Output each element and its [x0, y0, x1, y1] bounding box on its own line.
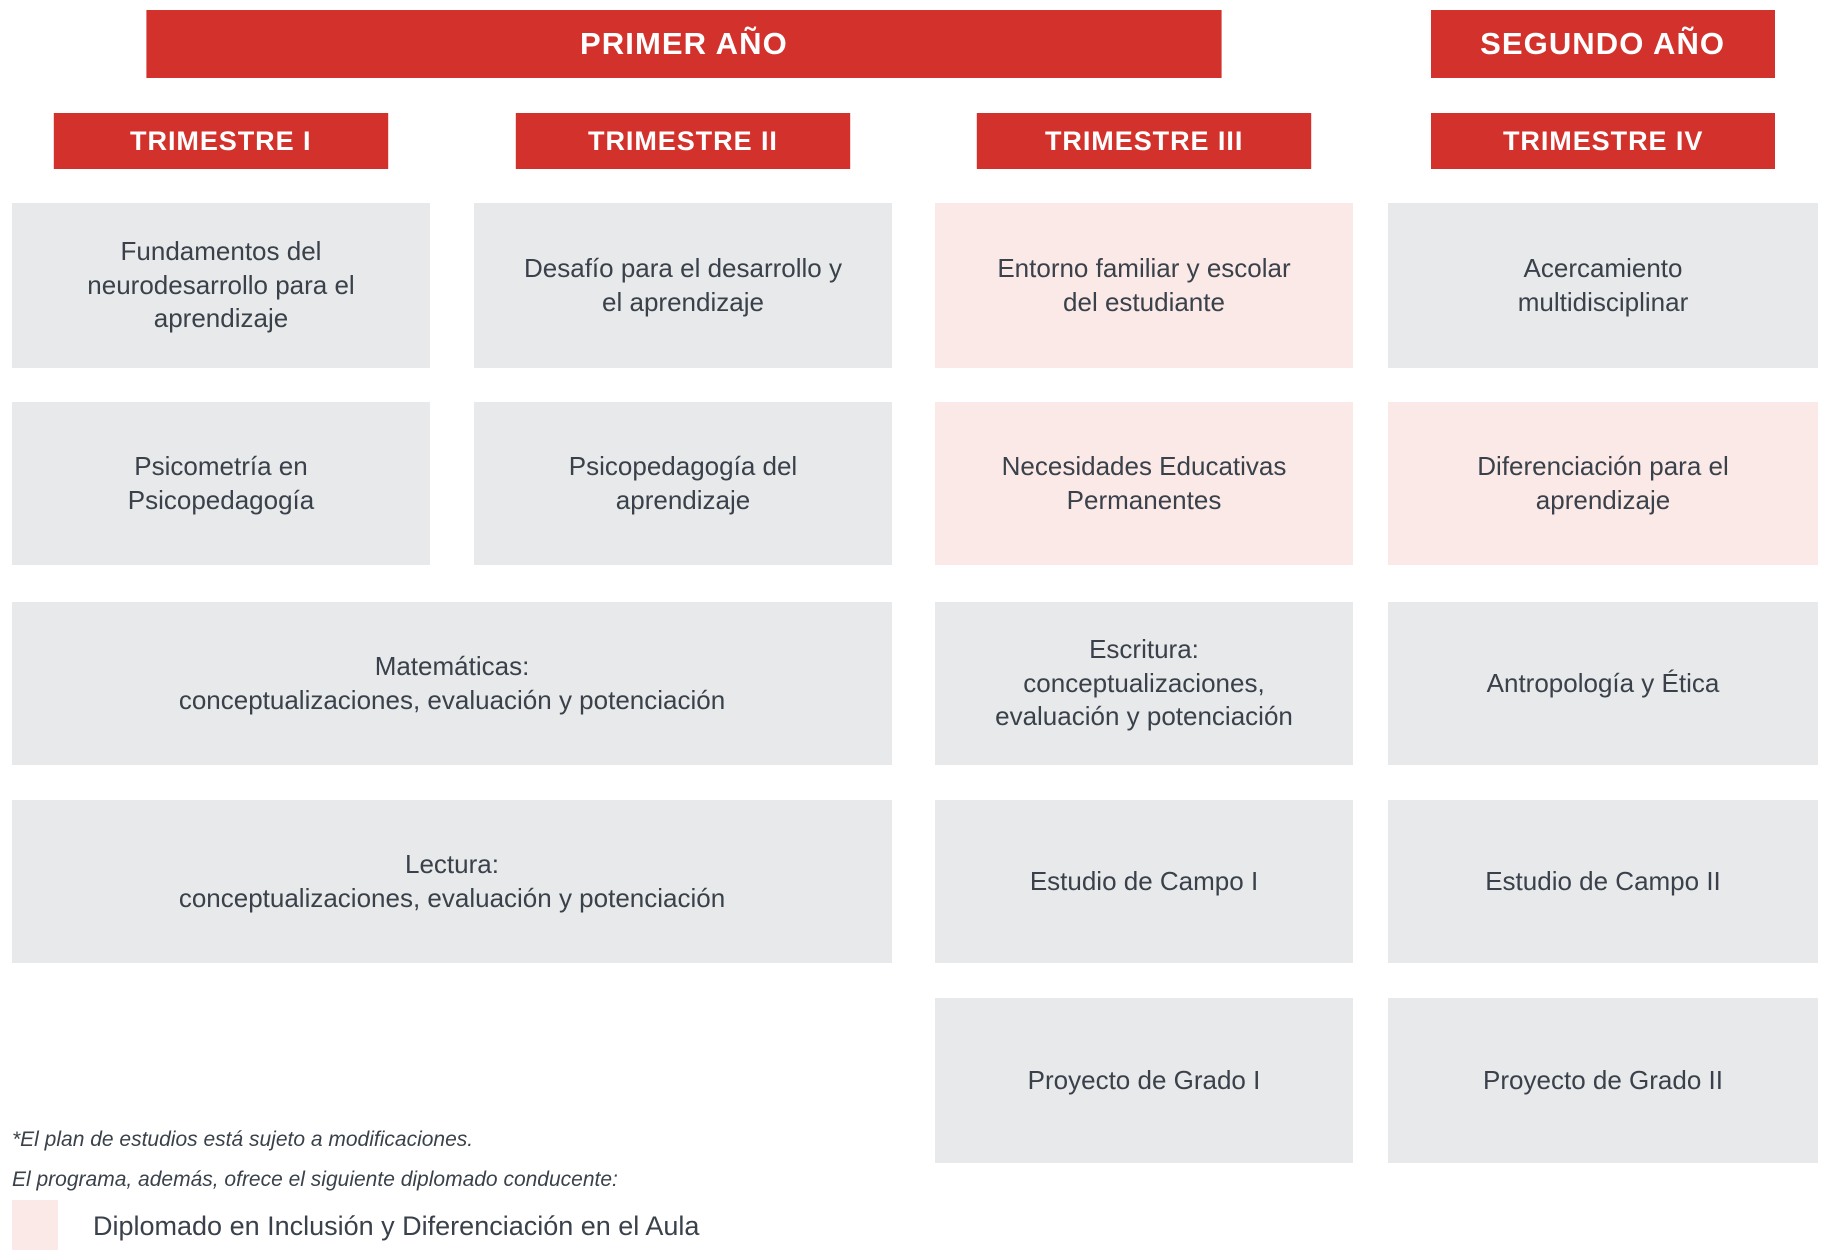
- course-card-wide[interactable]: Matemáticas: conceptualizaciones, evalua…: [12, 602, 892, 765]
- year-banner-primer-ano: PRIMER AÑO: [146, 10, 1221, 78]
- term-banner-trimestre-1: TRIMESTRE I: [54, 113, 388, 169]
- course-card[interactable]: Psicometría en Psicopedagogía: [12, 402, 430, 565]
- course-card[interactable]: Proyecto de Grado II: [1388, 998, 1818, 1163]
- footnote-modifications: *El plan de estudios está sujeto a modif…: [12, 1128, 473, 1152]
- term-banner-label: TRIMESTRE II: [588, 126, 778, 157]
- curriculum-plan: PRIMER AÑO SEGUNDO AÑO TRIMESTRE I TRIME…: [0, 0, 1830, 1258]
- course-card[interactable]: Desafío para el desarrollo y el aprendiz…: [474, 203, 892, 368]
- course-card[interactable]: Estudio de Campo I: [935, 800, 1353, 963]
- term-banner-trimestre-3: TRIMESTRE III: [977, 113, 1311, 169]
- legend-label-diplomado: Diplomado en Inclusión y Diferenciación …: [93, 1211, 699, 1242]
- legend-swatch-diplomado: [12, 1200, 58, 1250]
- course-card[interactable]: Antropología y Ética: [1388, 602, 1818, 765]
- year-banner-segundo-ano: SEGUNDO AÑO: [1431, 10, 1775, 78]
- term-banner-label: TRIMESTRE I: [130, 126, 311, 157]
- course-card[interactable]: Necesidades Educativas Permanentes: [935, 402, 1353, 565]
- course-card[interactable]: Diferenciación para el aprendizaje: [1388, 402, 1818, 565]
- course-card-wide[interactable]: Lectura: conceptualizaciones, evaluación…: [12, 800, 892, 963]
- year-banner-label: SEGUNDO AÑO: [1480, 26, 1725, 62]
- term-banner-label: TRIMESTRE IV: [1503, 126, 1703, 157]
- course-card[interactable]: Fundamentos del neurodesarrollo para el …: [12, 203, 430, 368]
- course-card[interactable]: Estudio de Campo II: [1388, 800, 1818, 963]
- term-banner-label: TRIMESTRE III: [1045, 126, 1243, 157]
- course-card[interactable]: Entorno familiar y escolar del estudiant…: [935, 203, 1353, 368]
- year-banner-label: PRIMER AÑO: [580, 26, 788, 62]
- course-card[interactable]: Escritura: conceptualizaciones, evaluaci…: [935, 602, 1353, 765]
- course-card[interactable]: Acercamiento multidisciplinar: [1388, 203, 1818, 368]
- term-banner-trimestre-4: TRIMESTRE IV: [1431, 113, 1775, 169]
- footnote-diplomado-intro: El programa, además, ofrece el siguiente…: [12, 1168, 618, 1192]
- term-banner-trimestre-2: TRIMESTRE II: [516, 113, 850, 169]
- course-card[interactable]: Psicopedagogía del aprendizaje: [474, 402, 892, 565]
- course-card[interactable]: Proyecto de Grado I: [935, 998, 1353, 1163]
